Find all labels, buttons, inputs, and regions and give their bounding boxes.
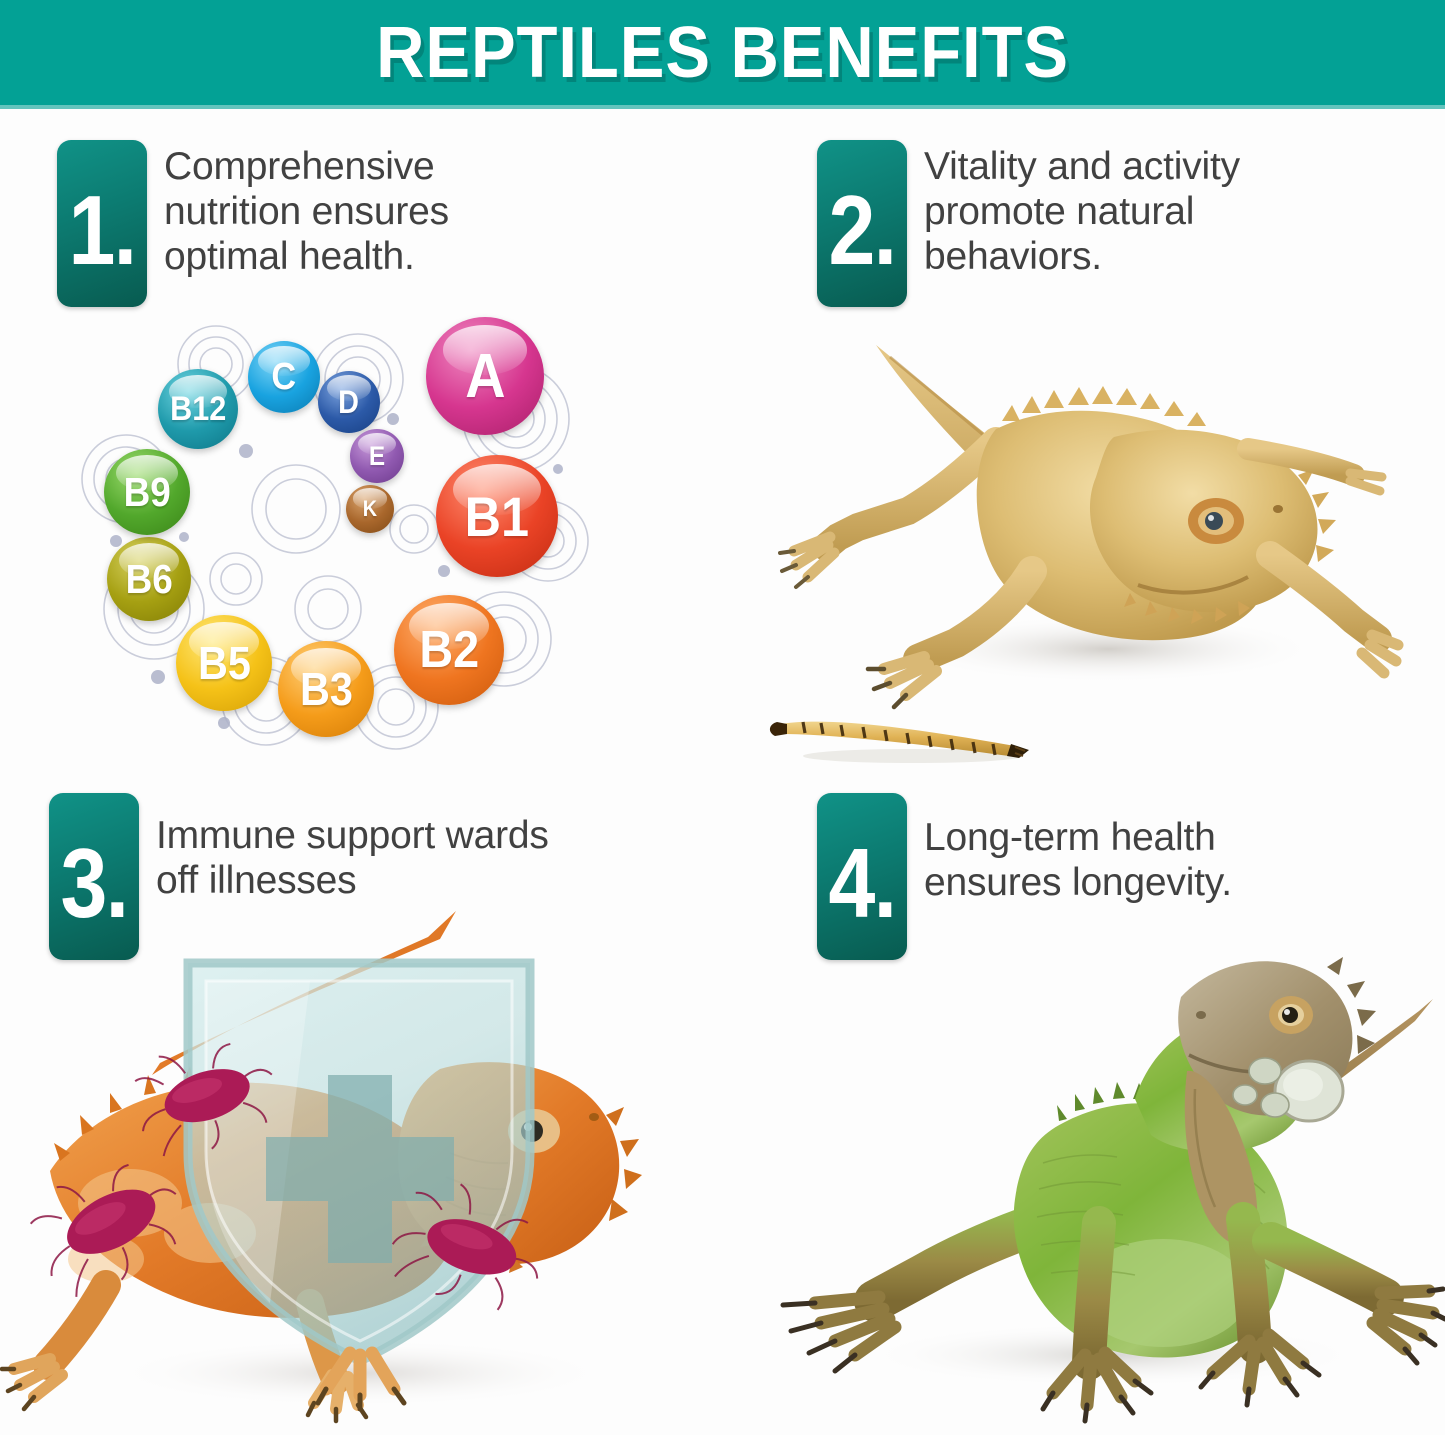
vitamin-bubble-b5: B5 bbox=[176, 615, 272, 711]
benefit-3-line-1: Immune support wards bbox=[156, 813, 549, 858]
vitamin-bubble-b9: B9 bbox=[104, 449, 190, 535]
benefit-4-line-2: ensures longevity. bbox=[924, 860, 1232, 905]
benefit-1-heading: 1. Comprehensive nutrition ensures optim… bbox=[57, 140, 449, 307]
vitamin-bubble-d: D bbox=[318, 371, 380, 433]
immune-shield-illustration bbox=[10, 903, 710, 1423]
benefit-2-line-3: behaviors. bbox=[924, 234, 1240, 279]
benefit-1-number-badge: 1. bbox=[57, 140, 147, 307]
benefit-1-line-3: optimal health. bbox=[164, 234, 449, 279]
benefit-3-text: Immune support wards off illnesses bbox=[156, 793, 549, 903]
green-iguana-photo bbox=[743, 923, 1443, 1423]
benefit-2-number: 2. bbox=[829, 181, 896, 279]
benefit-card-4: 4. Long-term health ensures longevity. bbox=[723, 773, 1445, 1436]
benefit-4-text: Long-term health ensures longevity. bbox=[924, 793, 1232, 905]
benefit-2-text: Vitality and activity promote natural be… bbox=[924, 140, 1240, 280]
benefits-grid: 1. Comprehensive nutrition ensures optim… bbox=[0, 109, 1445, 1435]
benefit-4-number: 4. bbox=[829, 834, 896, 932]
page-title: REPTILES BENEFITS bbox=[376, 12, 1069, 94]
benefit-2-heading: 2. Vitality and activity promote natural… bbox=[817, 140, 1240, 307]
vitamin-bubble-b1: B1 bbox=[436, 455, 558, 577]
page-header: REPTILES BENEFITS bbox=[0, 0, 1445, 105]
benefit-card-1: 1. Comprehensive nutrition ensures optim… bbox=[0, 109, 722, 772]
vitamin-wheel-illustration: A B1 B2 B3 B5 B6 B9 B12 C D E K bbox=[96, 309, 596, 769]
vitamin-bubble-e: E bbox=[350, 429, 404, 483]
benefit-1-line-1: Comprehensive bbox=[164, 144, 449, 189]
benefit-1-line-2: nutrition ensures bbox=[164, 189, 449, 234]
mealworm-photo bbox=[763, 694, 1063, 774]
vitamin-bubble-b12: B12 bbox=[158, 369, 238, 449]
benefit-4-line-1: Long-term health bbox=[924, 815, 1232, 860]
vitamin-bubble-c: C bbox=[248, 341, 320, 413]
vitamin-bubble-b2: B2 bbox=[394, 595, 504, 705]
benefit-1-number: 1. bbox=[69, 181, 136, 279]
benefit-3-line-2: off illnesses bbox=[156, 858, 549, 903]
vitamin-bubble-a: A bbox=[426, 317, 544, 435]
benefit-2-line-2: promote natural bbox=[924, 189, 1240, 234]
vitamin-bubble-k: K bbox=[346, 485, 394, 533]
vitamin-bubble-b6: B6 bbox=[107, 537, 191, 621]
vitamin-bubble-b3: B3 bbox=[278, 641, 374, 737]
benefit-card-3: 3. Immune support wards off illnesses bbox=[0, 773, 722, 1436]
benefit-2-number-badge: 2. bbox=[817, 140, 907, 307]
benefit-card-2: 2. Vitality and activity promote natural… bbox=[723, 109, 1445, 772]
benefit-2-line-1: Vitality and activity bbox=[924, 144, 1240, 189]
bearded-dragon-photo bbox=[778, 309, 1398, 709]
benefit-1-text: Comprehensive nutrition ensures optimal … bbox=[164, 140, 449, 280]
